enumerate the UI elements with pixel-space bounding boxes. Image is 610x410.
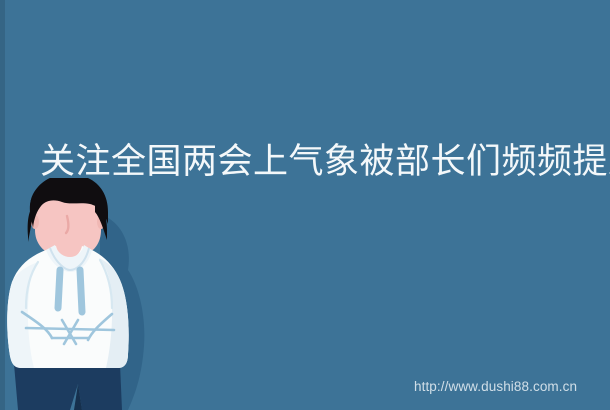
person-illustration: [0, 178, 170, 410]
poster-image: 关注全国两会上气象被部长们频频提及 http://www.dushi88.com…: [0, 0, 610, 410]
page-title: 关注全国两会上气象被部长们频频提及: [40, 140, 580, 184]
watermark-url: http://www.dushi88.com.cn: [414, 379, 577, 394]
pants: [14, 364, 122, 410]
